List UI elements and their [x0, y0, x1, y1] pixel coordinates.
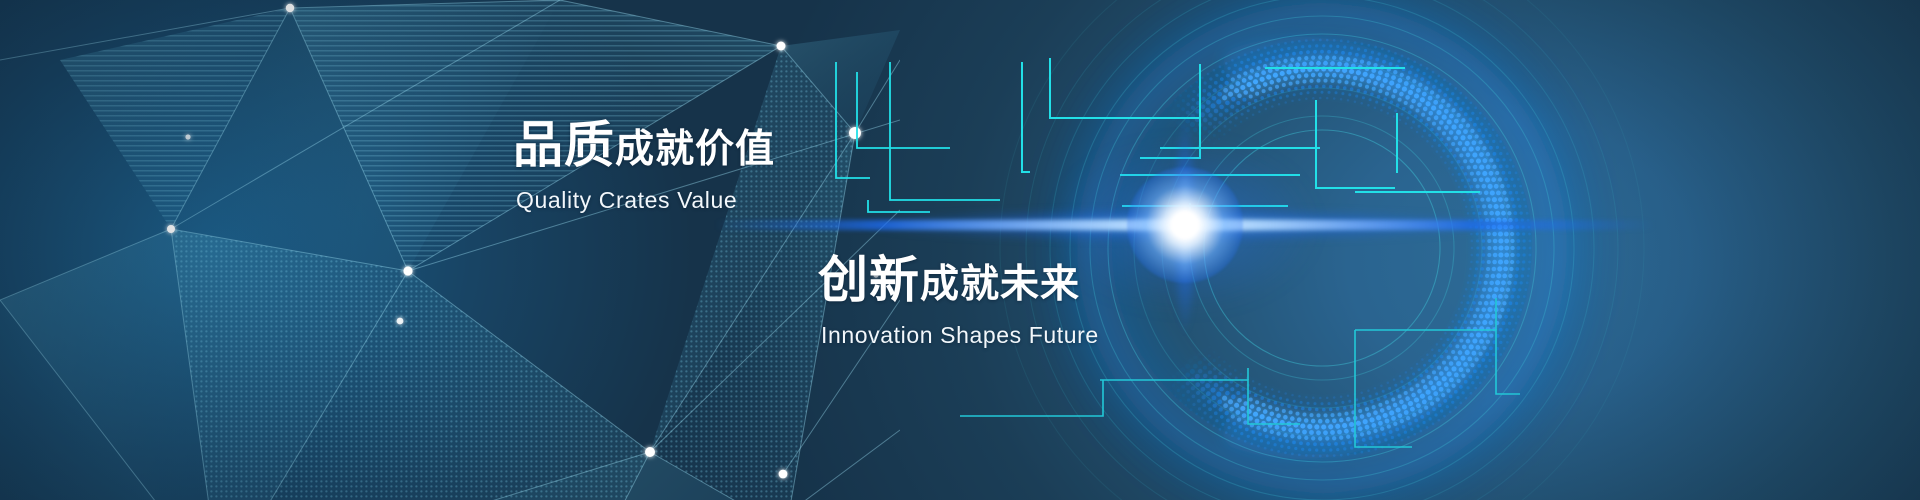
flare-beam-horizontal — [715, 220, 1655, 230]
mesh-node — [645, 447, 655, 457]
tech-ring-graphic — [0, 0, 1920, 500]
flare-beam-wide — [855, 208, 1515, 242]
mesh-edges — [0, 0, 900, 500]
flare-beam-vertical — [1172, 115, 1198, 335]
slogan-quality-chinese: 品质成就价值 — [513, 120, 775, 170]
slogan-innovation-english: Innovation Shapes Future — [821, 322, 1099, 349]
slogan-quality-chinese-emphasis: 品质 — [513, 116, 615, 174]
mesh-node — [779, 470, 788, 479]
slogan-innovation-chinese-emphasis: 创新 — [818, 251, 920, 309]
mesh-nodes — [167, 4, 879, 500]
slogan-innovation-chinese: 创新成就未来 — [818, 255, 1099, 305]
mesh-node — [185, 134, 190, 139]
slogan-quality-english: Quality Crates Value — [516, 187, 775, 214]
slogan-innovation: 创新成就未来 Innovation Shapes Future — [818, 255, 1099, 349]
slogan-quality-chinese-rest: 成就价值 — [615, 127, 775, 172]
mesh-node — [403, 266, 412, 275]
polygon-network-mesh — [0, 0, 900, 500]
slogan-quality: 品质成就价值 Quality Crates Value — [513, 120, 775, 214]
hero-banner: 品质成就价值 Quality Crates Value 创新成就未来 Innov… — [0, 0, 1920, 500]
mesh-facets — [0, 0, 900, 500]
mesh-node — [777, 42, 786, 51]
angular-circuit-lines-left — [836, 62, 1000, 212]
ring-glow-arc — [1240, 54, 1495, 442]
background-gradient — [0, 0, 1920, 500]
mesh-node — [167, 225, 175, 233]
mesh-node — [849, 127, 861, 139]
flare-core — [1127, 167, 1243, 283]
mesh-node — [397, 318, 404, 325]
mesh-node — [286, 4, 294, 12]
slogan-innovation-chinese-rest: 成就未来 — [920, 262, 1080, 307]
background-vignette — [0, 0, 1920, 500]
halftone-dot-ring — [1165, 39, 1532, 458]
mesh-halftone-texture — [50, 0, 900, 500]
concentric-circles — [1000, 0, 1644, 500]
angular-circuit-lines — [1022, 58, 1480, 210]
background-left-glow — [0, 0, 1920, 500]
